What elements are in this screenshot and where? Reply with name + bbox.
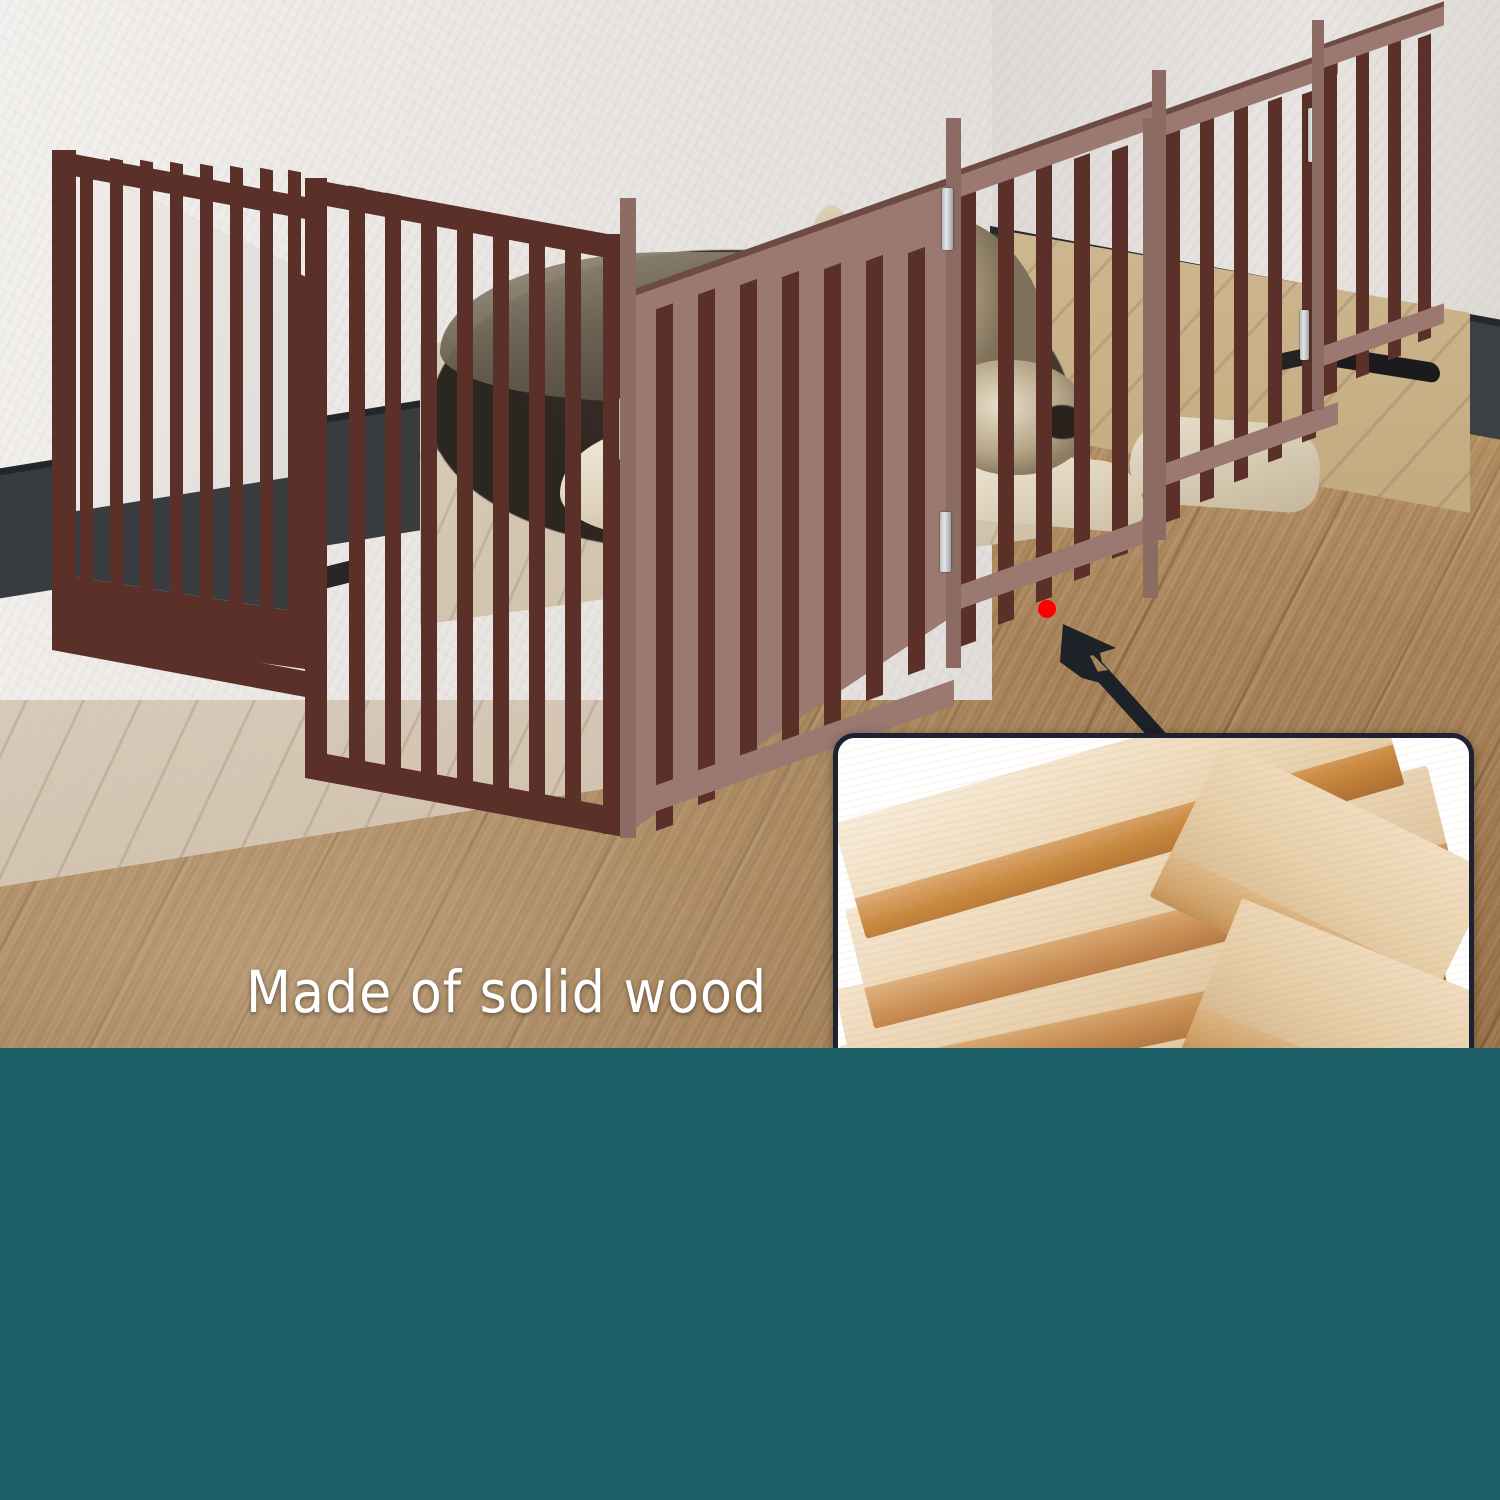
- gate-panel-1: [52, 150, 312, 670]
- gate-panel-4: [946, 118, 1158, 668]
- headline-made-of-solid-wood: Made of solid wood: [246, 958, 767, 1026]
- features-panel: 1. Limit your pet from running around 2.…: [0, 1048, 1500, 1500]
- gate-panel-6: [1312, 20, 1440, 410]
- product-marketing-image: Made of solid wood: [0, 0, 1500, 1500]
- inset-solid-wood-photo: [833, 733, 1474, 1048]
- gate-panel-5: [1152, 70, 1334, 540]
- gate-panel-1-slats: [52, 150, 312, 670]
- gate-hinge-middle: [942, 188, 953, 250]
- gate-panel-2-slats: [305, 178, 625, 818]
- gate-hinge-middle-lower: [940, 512, 951, 572]
- gate-hinge-right-lower: [1300, 310, 1309, 360]
- gate-panel-2: [305, 178, 625, 818]
- product-photo-scene: Made of solid wood: [0, 0, 1500, 1048]
